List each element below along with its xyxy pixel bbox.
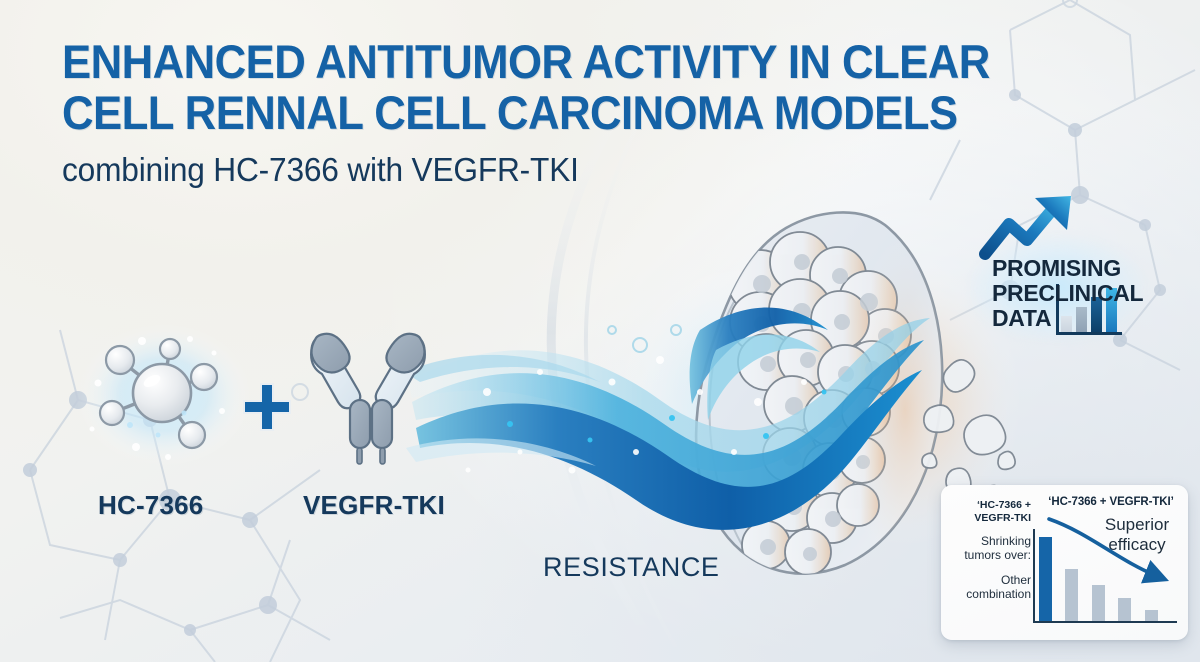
headline-subtitle: combining HC-7366 with VEGFR-TKI: [62, 151, 1118, 189]
chart-left-sub-line2: tumors over:: [949, 548, 1031, 562]
molecule-label: HC-7366: [98, 490, 203, 521]
chart-left-labels: ‘HC-7366 + VEGFR-TKI Shrinking tumors ov…: [949, 499, 1031, 601]
badge-line-3: DATA: [992, 306, 1143, 331]
badge-text-block: PROMISING PRECLINICAL DATA: [992, 256, 1143, 331]
efficacy-chart-card: ‘HC-7366 + VEGFR-TKI Shrinking tumors ov…: [941, 485, 1188, 640]
declining-curve-arrow-icon: [1033, 497, 1178, 607]
headline-block: ENHANCED ANTITUMOR ACTIVITY IN CLEAR CEL…: [62, 36, 1162, 189]
plus-icon: [238, 378, 296, 436]
chart-bar: [1145, 610, 1158, 621]
chart-left-title-line2: VEGFR-TKI: [949, 512, 1031, 525]
resistance-label: RESISTANCE: [543, 552, 720, 583]
chart-left-title-line1: ‘HC-7366 +: [949, 499, 1031, 512]
chart-left-sub2-line2: combination: [949, 587, 1031, 601]
headline-line-1: ENHANCED ANTITUMOR ACTIVITY IN CLEAR: [62, 36, 1085, 87]
badge-line-1: PROMISING: [992, 256, 1143, 281]
chart-left-sub2-line1: Other: [949, 573, 1031, 587]
badge-line-2: PRECLINICAL: [992, 281, 1143, 306]
chart-left-sub-line1: Shrinking: [949, 534, 1031, 548]
infographic-canvas: ENHANCED ANTITUMOR ACTIVITY IN CLEAR CEL…: [0, 0, 1200, 662]
headline-line-2: CELL RENNAL CELL CARCINOMA MODELS: [62, 87, 1085, 138]
trending-up-arrow-icon: [985, 196, 1071, 254]
chart-plot-area: [1033, 513, 1178, 623]
antibody-icon: [300, 322, 450, 482]
promising-data-badge: PROMISING PRECLINICAL DATA: [975, 196, 1155, 346]
chart-x-axis: [1033, 621, 1177, 623]
antibody-label: VEGFR-TKI: [303, 490, 445, 521]
molecule-icon: [72, 325, 262, 485]
